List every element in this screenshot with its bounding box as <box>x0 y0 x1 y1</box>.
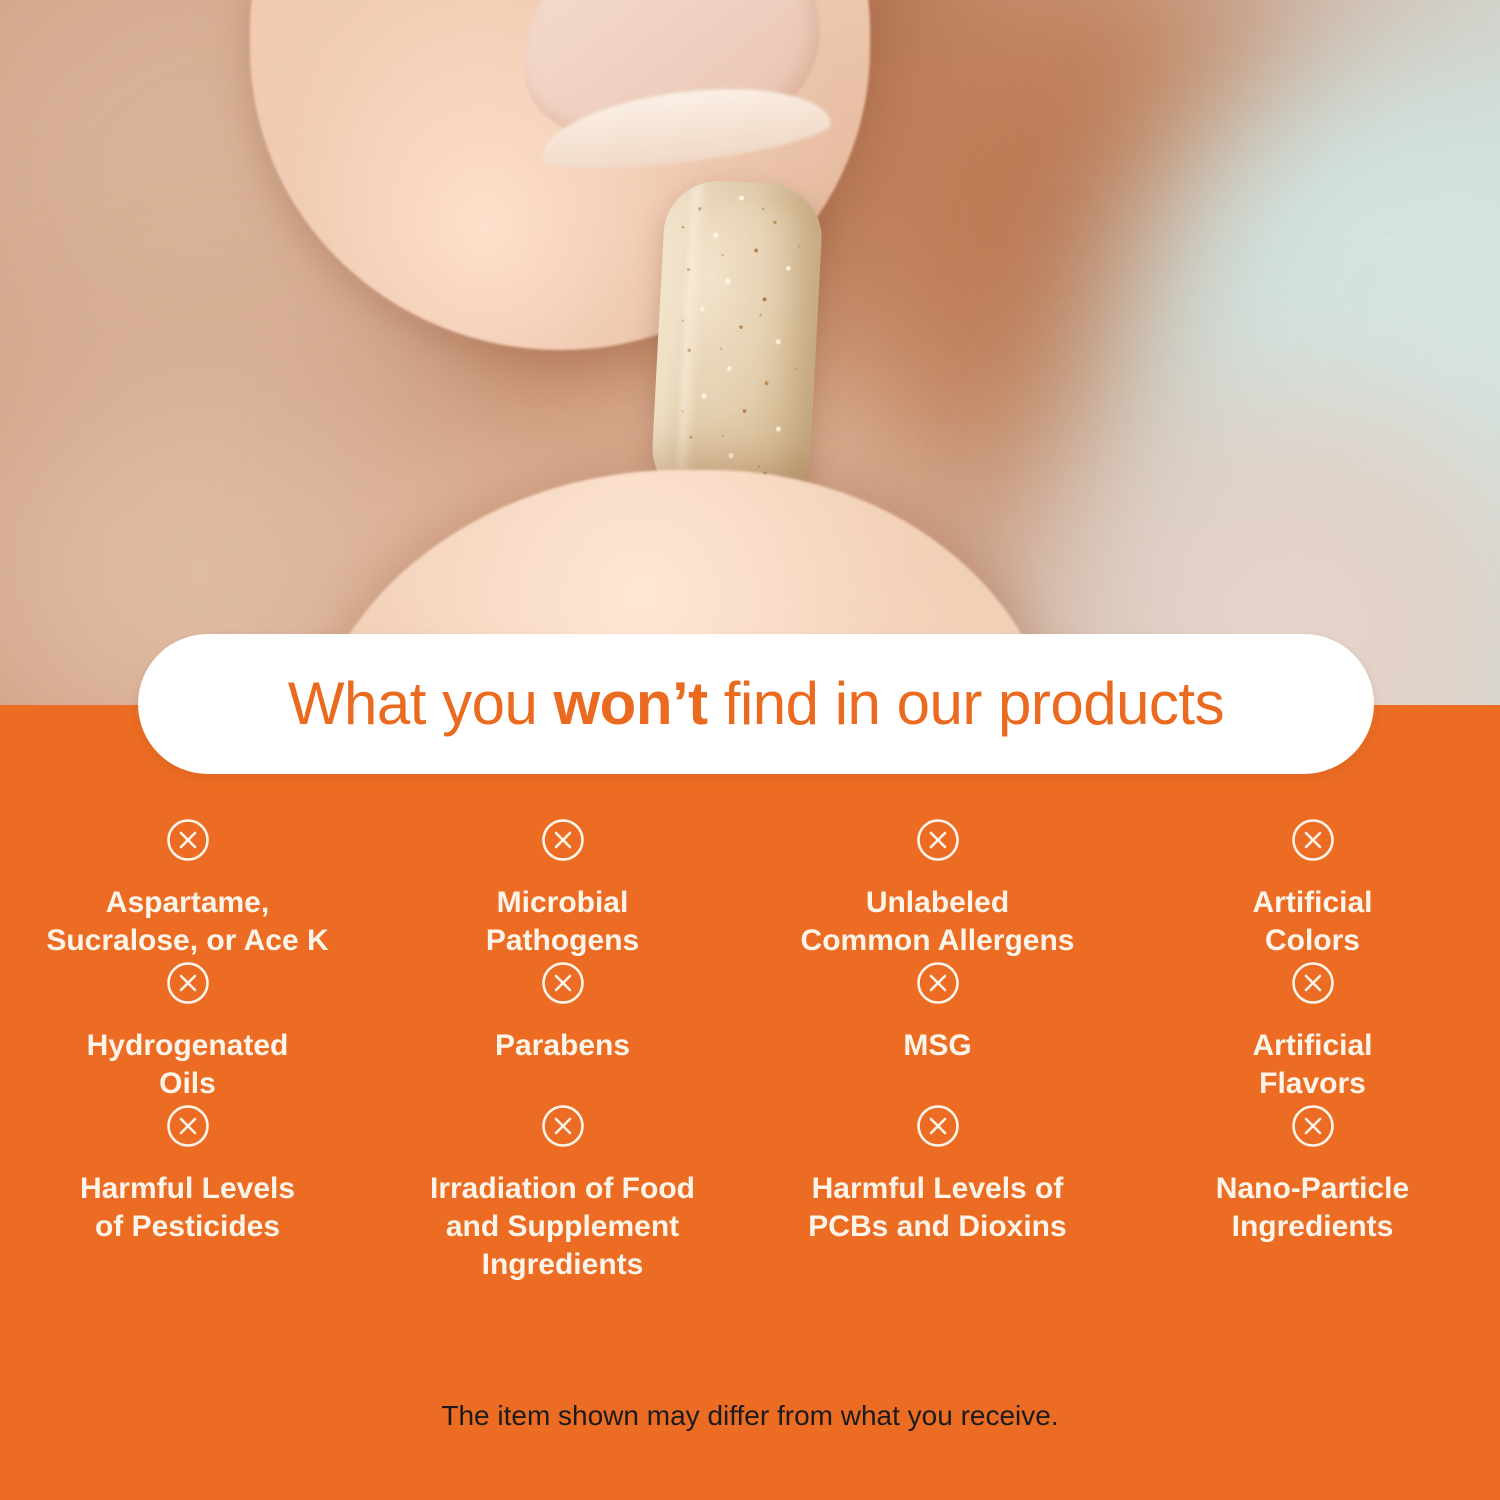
exclusion-label: Aspartame, Sucralose, or Ace K <box>46 884 328 961</box>
circle-x-icon <box>916 961 960 1005</box>
circle-x-icon <box>1291 1104 1335 1148</box>
exclusion-item: Nano-Particle Ingredients <box>1125 1104 1500 1285</box>
exclusion-label: Microbial Pathogens <box>486 884 639 961</box>
exclusion-item: Parabens <box>375 961 750 1104</box>
exclusion-label: Unlabeled Common Allergens <box>801 884 1075 961</box>
circle-x-icon <box>916 1104 960 1148</box>
exclusion-item: MSG <box>750 961 1125 1104</box>
exclusion-label: Harmful Levels of PCBs and Dioxins <box>808 1170 1066 1247</box>
tablet-speckles-fine <box>650 178 825 508</box>
title-card: What you won’t find in our products <box>138 634 1374 774</box>
title-part-1: What you <box>288 670 554 737</box>
title-part-2: find in our products <box>708 670 1224 737</box>
supplement-tablet <box>650 178 825 508</box>
exclusion-label: Parabens <box>495 1027 630 1065</box>
exclusion-item: Aspartame, Sucralose, or Ace K <box>0 818 375 961</box>
exclusion-item: Microbial Pathogens <box>375 818 750 961</box>
circle-x-icon <box>916 818 960 862</box>
circle-x-icon <box>166 818 210 862</box>
exclusion-label: MSG <box>903 1027 971 1065</box>
exclusion-item: Artificial Colors <box>1125 818 1500 961</box>
exclusion-label: Nano-Particle Ingredients <box>1216 1170 1409 1247</box>
page-title: What you won’t find in our products <box>288 674 1224 734</box>
exclusion-item: Irradiation of Food and Supplement Ingre… <box>375 1104 750 1285</box>
title-emphasis: won’t <box>554 670 708 737</box>
exclusion-label: Harmful Levels of Pesticides <box>80 1170 295 1247</box>
circle-x-icon <box>541 1104 585 1148</box>
circle-x-icon <box>166 961 210 1005</box>
exclusions-grid: Aspartame, Sucralose, or Ace K Microbial… <box>0 818 1500 1285</box>
product-photo <box>0 0 1500 712</box>
exclusion-label: Irradiation of Food and Supplement Ingre… <box>430 1170 695 1285</box>
exclusion-label: Artificial Flavors <box>1252 1027 1372 1104</box>
disclaimer-text: The item shown may differ from what you … <box>0 1400 1500 1432</box>
circle-x-icon <box>541 818 585 862</box>
exclusion-label: Hydrogenated Oils <box>87 1027 289 1104</box>
circle-x-icon <box>166 1104 210 1148</box>
exclusion-item: Harmful Levels of Pesticides <box>0 1104 375 1285</box>
circle-x-icon <box>541 961 585 1005</box>
exclusion-item: Unlabeled Common Allergens <box>750 818 1125 961</box>
circle-x-icon <box>1291 961 1335 1005</box>
product-info-panel: What you won’t find in our products Aspa… <box>0 0 1500 1500</box>
exclusion-label: Artificial Colors <box>1252 884 1372 961</box>
exclusion-item: Hydrogenated Oils <box>0 961 375 1104</box>
exclusion-item: Artificial Flavors <box>1125 961 1500 1104</box>
exclusion-item: Harmful Levels of PCBs and Dioxins <box>750 1104 1125 1285</box>
circle-x-icon <box>1291 818 1335 862</box>
